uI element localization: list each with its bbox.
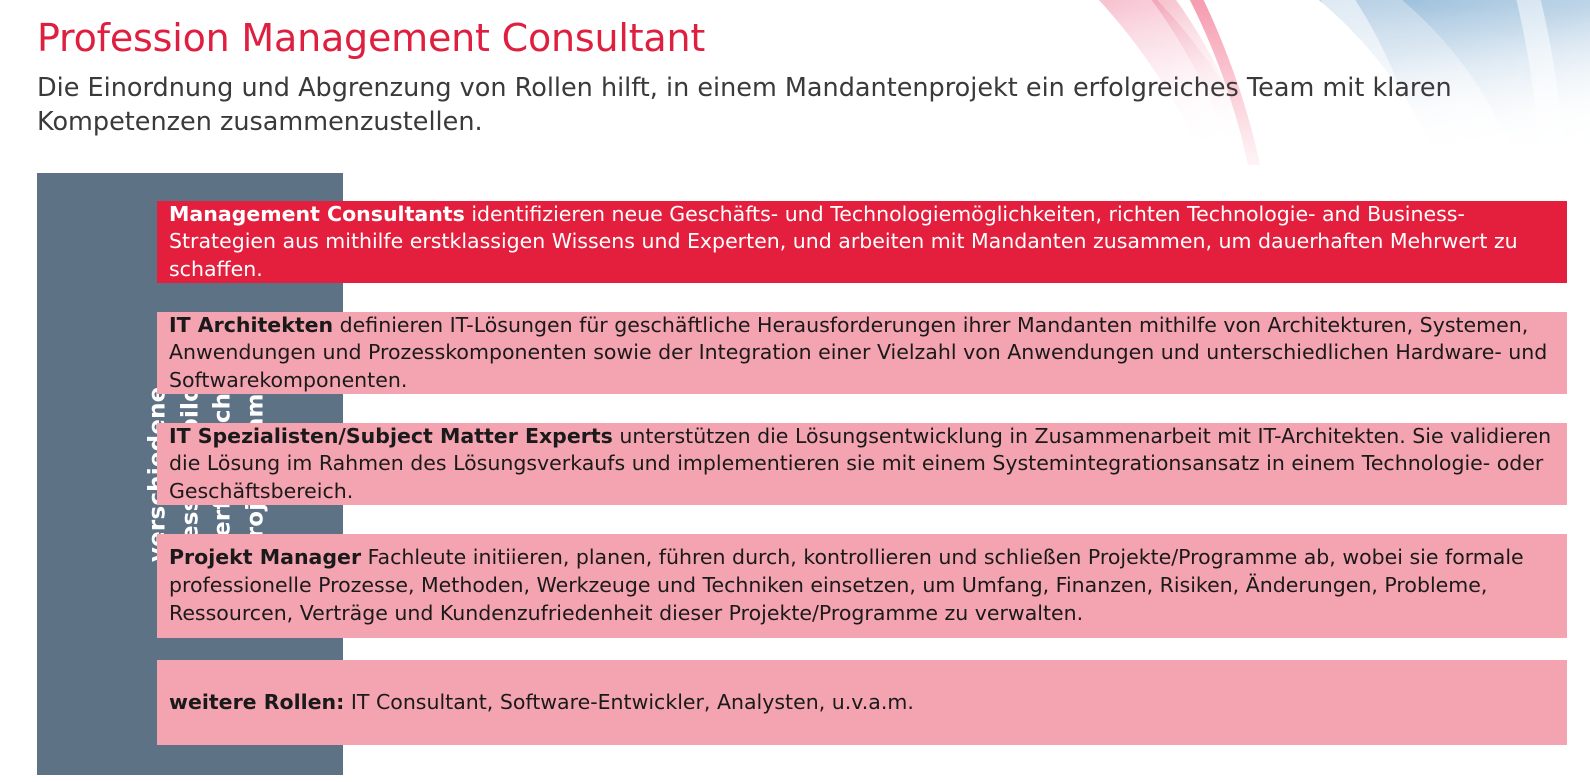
slide-canvas: Profession Management Consultant Die Ein… <box>0 0 1590 782</box>
role-bar-text: weitere Rollen: IT Consultant, Software-… <box>157 689 1567 717</box>
role-bar-it-spezialisten[interactable]: IT Spezialisten/Subject Matter Experts u… <box>157 423 1567 505</box>
role-name: Projekt Manager <box>169 545 361 569</box>
role-name: IT Spezialisten/Subject Matter Experts <box>169 424 613 448</box>
role-description: Fachleute initiieren, planen, führen dur… <box>169 545 1524 624</box>
role-bar-management-consultants[interactable]: Management Consultants identifizieren ne… <box>157 201 1567 283</box>
role-bar-weitere-rollen[interactable]: weitere Rollen: IT Consultant, Software-… <box>157 660 1567 745</box>
role-bar-it-architekten[interactable]: IT Architekten definieren IT-Lösungen fü… <box>157 312 1567 394</box>
role-description: definieren IT-Lösungen für geschäftliche… <box>169 313 1547 392</box>
role-description: IT Consultant, Software-Entwickler, Anal… <box>351 690 914 714</box>
role-bar-text: IT Architekten definieren IT-Lösungen fü… <box>157 312 1567 395</box>
page-title: Profession Management Consultant <box>37 16 1487 60</box>
role-bar-projekt-manager[interactable]: Projekt Manager Fachleute initiieren, pl… <box>157 534 1567 638</box>
role-name: Management Consultants <box>169 202 465 226</box>
role-bar-text: Projekt Manager Fachleute initiieren, pl… <box>157 544 1567 627</box>
role-name: IT Architekten <box>169 313 333 337</box>
page-subtitle: Die Einordnung und Abgrenzung von Rollen… <box>37 72 1477 140</box>
header: Profession Management Consultant Die Ein… <box>37 16 1487 140</box>
role-name: weitere Rollen: <box>169 690 344 714</box>
role-bar-text: Management Consultants identifizieren ne… <box>157 201 1567 284</box>
role-bar-text: IT Spezialisten/Subject Matter Experts u… <box>157 423 1567 506</box>
